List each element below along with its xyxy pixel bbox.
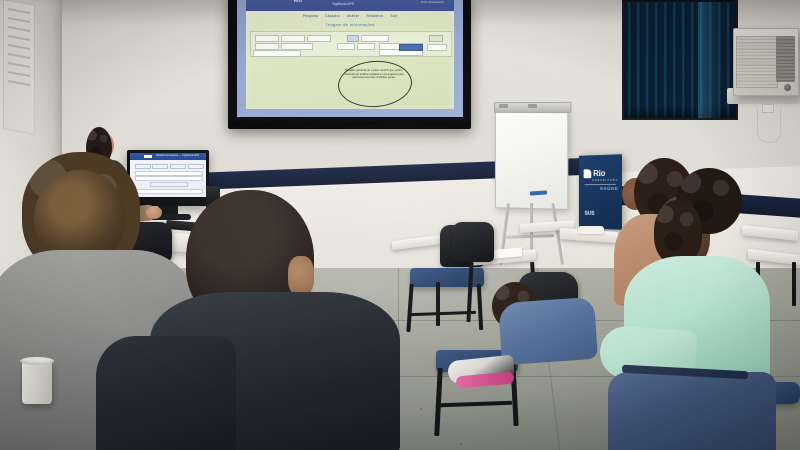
blinds-light-glare (698, 0, 722, 118)
wall-poster (3, 0, 35, 135)
slide-nav-menu[interactable]: Pesquisa Cadastro Análise Relatórios Sai… (246, 14, 454, 18)
monitor-logo-icon (144, 155, 152, 158)
banner-logo-group: Rio (584, 169, 606, 178)
slide-body-panel: Pesquisa Cadastro Análise Relatórios Sai… (246, 11, 454, 109)
annotation-text: Situação pendente de custeio na APS que,… (344, 69, 404, 80)
projection-surface: RIO Plataforma Carioca Vigilância APS Us… (237, 0, 463, 117)
banner-program-label: SUS (585, 211, 595, 217)
flipchart-clip-right[interactable] (528, 104, 537, 108)
banner-divider (585, 184, 616, 185)
slide-header-right-text: Usuário conectado Perfil: Administrador (421, 0, 444, 5)
slide-brand-logo: RIO (294, 0, 302, 3)
slide-menu-item-1[interactable]: Cadastro (325, 14, 340, 18)
ac-vent-louvers[interactable] (776, 36, 795, 82)
slide-brand-subtitle: Plataforma Carioca Vigilância APS (332, 0, 361, 6)
slide-section-title: Triagem de Informações (246, 22, 454, 27)
air-conditioner-unit[interactable] (733, 28, 799, 96)
chair-back-right (452, 222, 494, 262)
attendee-front-center-arm (96, 336, 236, 450)
slide-search-button[interactable] (399, 44, 423, 51)
attendee-mid-legs-jeans (498, 297, 598, 366)
presenter-hand (146, 206, 162, 219)
banner-city-label: Rio (593, 169, 605, 178)
slide-menu-item-3[interactable]: Relatórios (367, 14, 384, 18)
monitor-app-title: Plataforma Carioca — Vigilância APS (156, 154, 199, 157)
projection-screen: RIO Plataforma Carioca Vigilância APS Us… (228, 0, 471, 129)
attendee-front-center-neck (288, 256, 314, 296)
waste-bin-rim (20, 357, 54, 365)
flipchart-clip-left[interactable] (499, 104, 508, 108)
attendee-front-right-jeans (608, 372, 776, 450)
slide-filter-form (250, 31, 452, 57)
slide-menu-item-4[interactable]: Sair (391, 14, 398, 18)
snack-bag-on-desk[interactable] (578, 226, 604, 234)
monitor-screen: Plataforma Carioca — Vigilância APS (130, 153, 206, 197)
monitor-app-header: Plataforma Carioca — Vigilância APS (130, 153, 206, 160)
banner-org-label: PREFEITURA (592, 179, 618, 182)
slide-menu-item-0[interactable]: Pesquisa (303, 14, 318, 18)
flipchart-easel[interactable] (494, 99, 568, 211)
rio-prefeitura-banner: Rio PREFEITURA SAÚDE SUS (579, 154, 622, 230)
ac-intake-grille (736, 36, 778, 88)
computer-monitor[interactable]: Plataforma Carioca — Vigilância APS (127, 150, 209, 206)
attendee-front-right-hair (654, 200, 702, 264)
waste-bin[interactable] (22, 362, 52, 404)
slide-clear-button[interactable] (427, 44, 447, 51)
vertical-blinds[interactable] (622, 0, 738, 120)
rio-coat-of-arms-icon (584, 169, 592, 178)
banner-department-label: SAÚDE (600, 186, 618, 191)
classroom-photo-scene: RIO Plataforma Carioca Vigilância APS Us… (0, 0, 800, 450)
blinds-rail (622, 0, 734, 2)
ac-control-knob[interactable] (784, 84, 791, 91)
wall-cable-loop (757, 108, 781, 143)
slide-menu-item-2[interactable]: Análise (347, 14, 359, 18)
